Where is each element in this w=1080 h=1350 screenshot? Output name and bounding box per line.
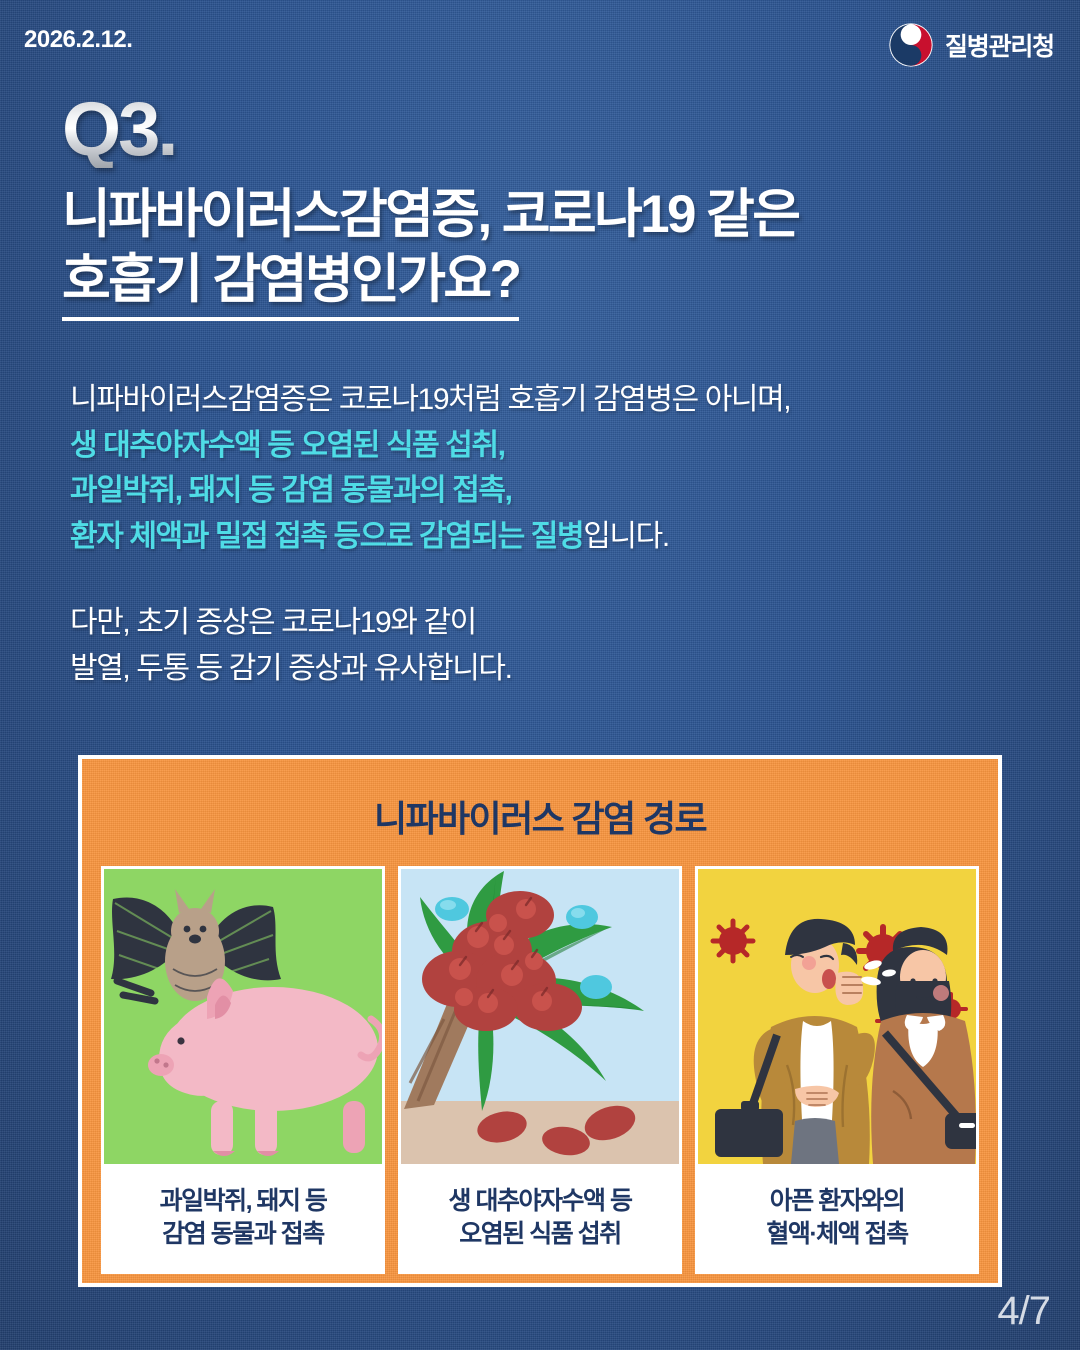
answer-line-4-highlight: 환자 체액과 밀접 접촉 등으로 감염되는 질병 [70,520,583,553]
caption-line-2: 감염 동물과 접촉 [108,1218,378,1251]
transmission-card-list: 과일박쥐, 돼지 등 감염 동물과 접촉 [82,842,998,1274]
agency-logo: 질병관리청 [888,22,1054,68]
answer-line-3-highlight: 과일박쥐, 돼지 등 감염 동물과의 접촉, [70,468,790,514]
panel-title: 니파바이러스 감염 경로 [82,790,998,842]
answer-line-1: 니파바이러스감염증은 코로나19처럼 호흡기 감염병은 아니며, [70,377,790,423]
transmission-card: 과일박쥐, 돼지 등 감염 동물과 접촉 [101,866,385,1274]
page-title: 니파바이러스감염증, 코로나19 같은 호흡기 감염병인가요? [62,183,798,321]
transmission-route-panel: 니파바이러스 감염 경로 [78,755,1002,1287]
card-caption: 과일박쥐, 돼지 등 감염 동물과 접촉 [104,1164,382,1271]
note-line-1: 다만, 초기 증상은 코로나19와 같이 [70,600,512,646]
page-indicator: 4/7 [997,1289,1050,1334]
fruit-bat-and-pig-illustration [104,869,382,1164]
title-line-2: 호흡기 감염병인가요? [62,248,519,322]
title-line-1: 니파바이러스감염증, 코로나19 같은 [62,183,798,248]
agency-name: 질병관리청 [945,27,1054,63]
answer-line-4-tail: 입니다. [583,520,669,553]
publish-date: 2026.2.12. [24,26,132,54]
caption-line-2: 오염된 식품 섭취 [405,1218,675,1251]
date-palm-tree-illustration [401,869,679,1164]
card-caption: 생 대추야자수액 등 오염된 식품 섭취 [401,1164,679,1271]
answer-line-2-highlight: 생 대추야자수액 등 오염된 식품 섭취, [70,423,790,469]
korea-government-taegeuk-icon [888,22,934,68]
transmission-card: 생 대추야자수액 등 오염된 식품 섭취 [398,866,682,1274]
note-line-2: 발열, 두통 등 감기 증상과 유사합니다. [70,646,512,692]
caption-line-1: 생 대추야자수액 등 [405,1185,675,1218]
caption-line-1: 과일박쥐, 돼지 등 [108,1185,378,1218]
sick-person-coughing-illustration [698,869,976,1164]
card-caption: 아픈 환자와의 혈액·체액 접촉 [698,1164,976,1271]
transmission-card: 아픈 환자와의 혈액·체액 접촉 [695,866,979,1274]
caption-line-2: 혈액·체액 접촉 [702,1218,972,1251]
question-number: Q3. [62,92,176,168]
caption-line-1: 아픈 환자와의 [702,1185,972,1218]
answer-paragraph-1: 니파바이러스감염증은 코로나19처럼 호흡기 감염병은 아니며, 생 대추야자수… [70,377,790,559]
answer-paragraph-2: 다만, 초기 증상은 코로나19와 같이 발열, 두통 등 감기 증상과 유사합… [70,600,512,691]
